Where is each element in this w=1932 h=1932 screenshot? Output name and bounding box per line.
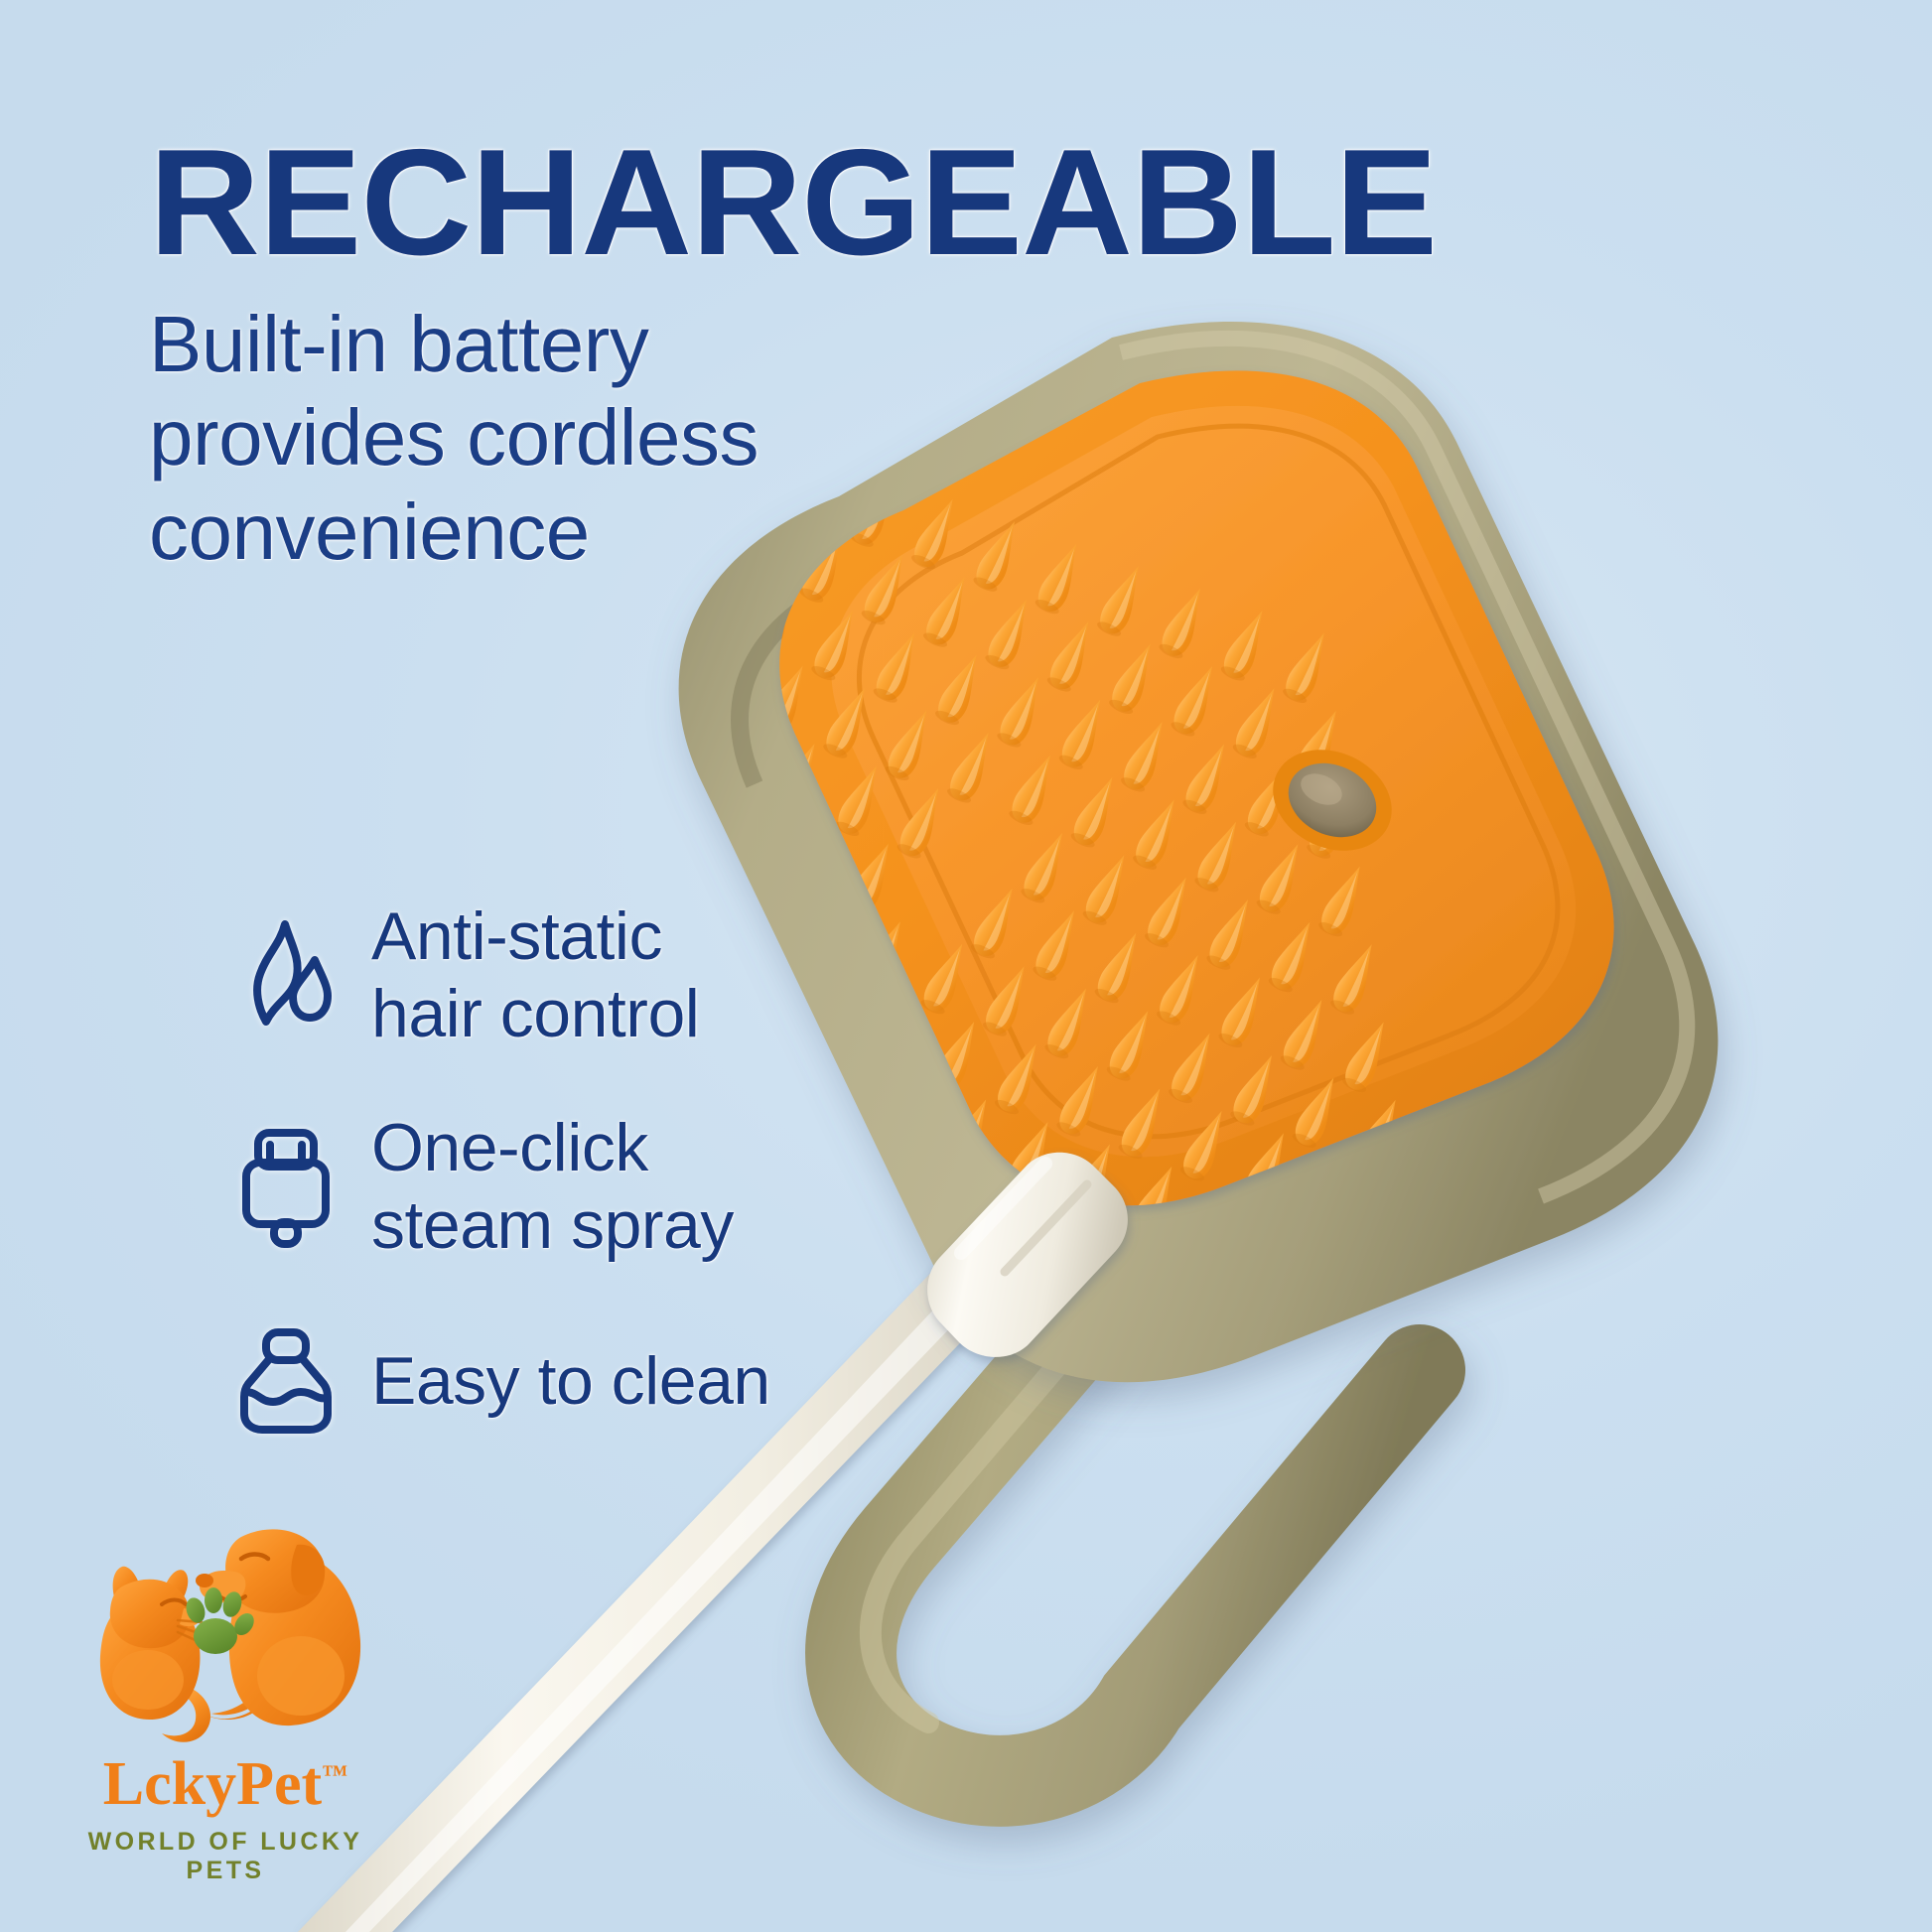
water-tank-icon <box>234 1321 338 1443</box>
subtitle-line-1: Built-in battery <box>149 298 759 391</box>
feature-label-steam-spray: One-click steam spray <box>371 1110 734 1264</box>
steam-nozzle-hole <box>1257 731 1409 869</box>
subtitle-line-2: provides cordless <box>149 391 759 484</box>
logo-wordmark: LckyPet™ <box>62 1753 389 1815</box>
cat-and-dog-logo-icon <box>67 1509 384 1757</box>
logo-wordmark-text: LckyPet <box>103 1750 322 1818</box>
logo-tagline: WORLD OF LUCKY PETS <box>62 1828 389 1885</box>
device-body <box>679 322 1719 1382</box>
cat-figure <box>100 1567 210 1742</box>
steam-drop-icon <box>234 915 338 1036</box>
led-indicator <box>1034 1175 1117 1251</box>
brush-head <box>779 370 1613 1205</box>
feature-label-anti-static: Anti-static hair control <box>371 898 699 1052</box>
feature-label-easy-clean: Easy to clean <box>371 1343 770 1421</box>
feature-item-easy-clean: Easy to clean <box>234 1321 770 1443</box>
feature-item-anti-static: Anti-static hair control <box>234 898 770 1052</box>
trademark-symbol: ™ <box>322 1759 347 1788</box>
subtitle: Built-in battery provides cordless conve… <box>149 298 759 579</box>
feature-list: Anti-static hair control One-click steam… <box>234 898 770 1443</box>
page-title: RECHARGEABLE <box>149 127 1437 278</box>
usb-plug-icon <box>234 1127 338 1248</box>
feature-item-steam-spray: One-click steam spray <box>234 1110 770 1264</box>
handle-loop <box>851 1203 1420 1781</box>
subtitle-line-3: convenience <box>149 485 759 579</box>
usb-c-connector <box>927 1153 1128 1357</box>
product-feature-banner: RECHARGEABLE Built-in battery provides c… <box>0 0 1932 1932</box>
brand-logo: LckyPet™ WORLD OF LUCKY PETS <box>62 1509 389 1885</box>
